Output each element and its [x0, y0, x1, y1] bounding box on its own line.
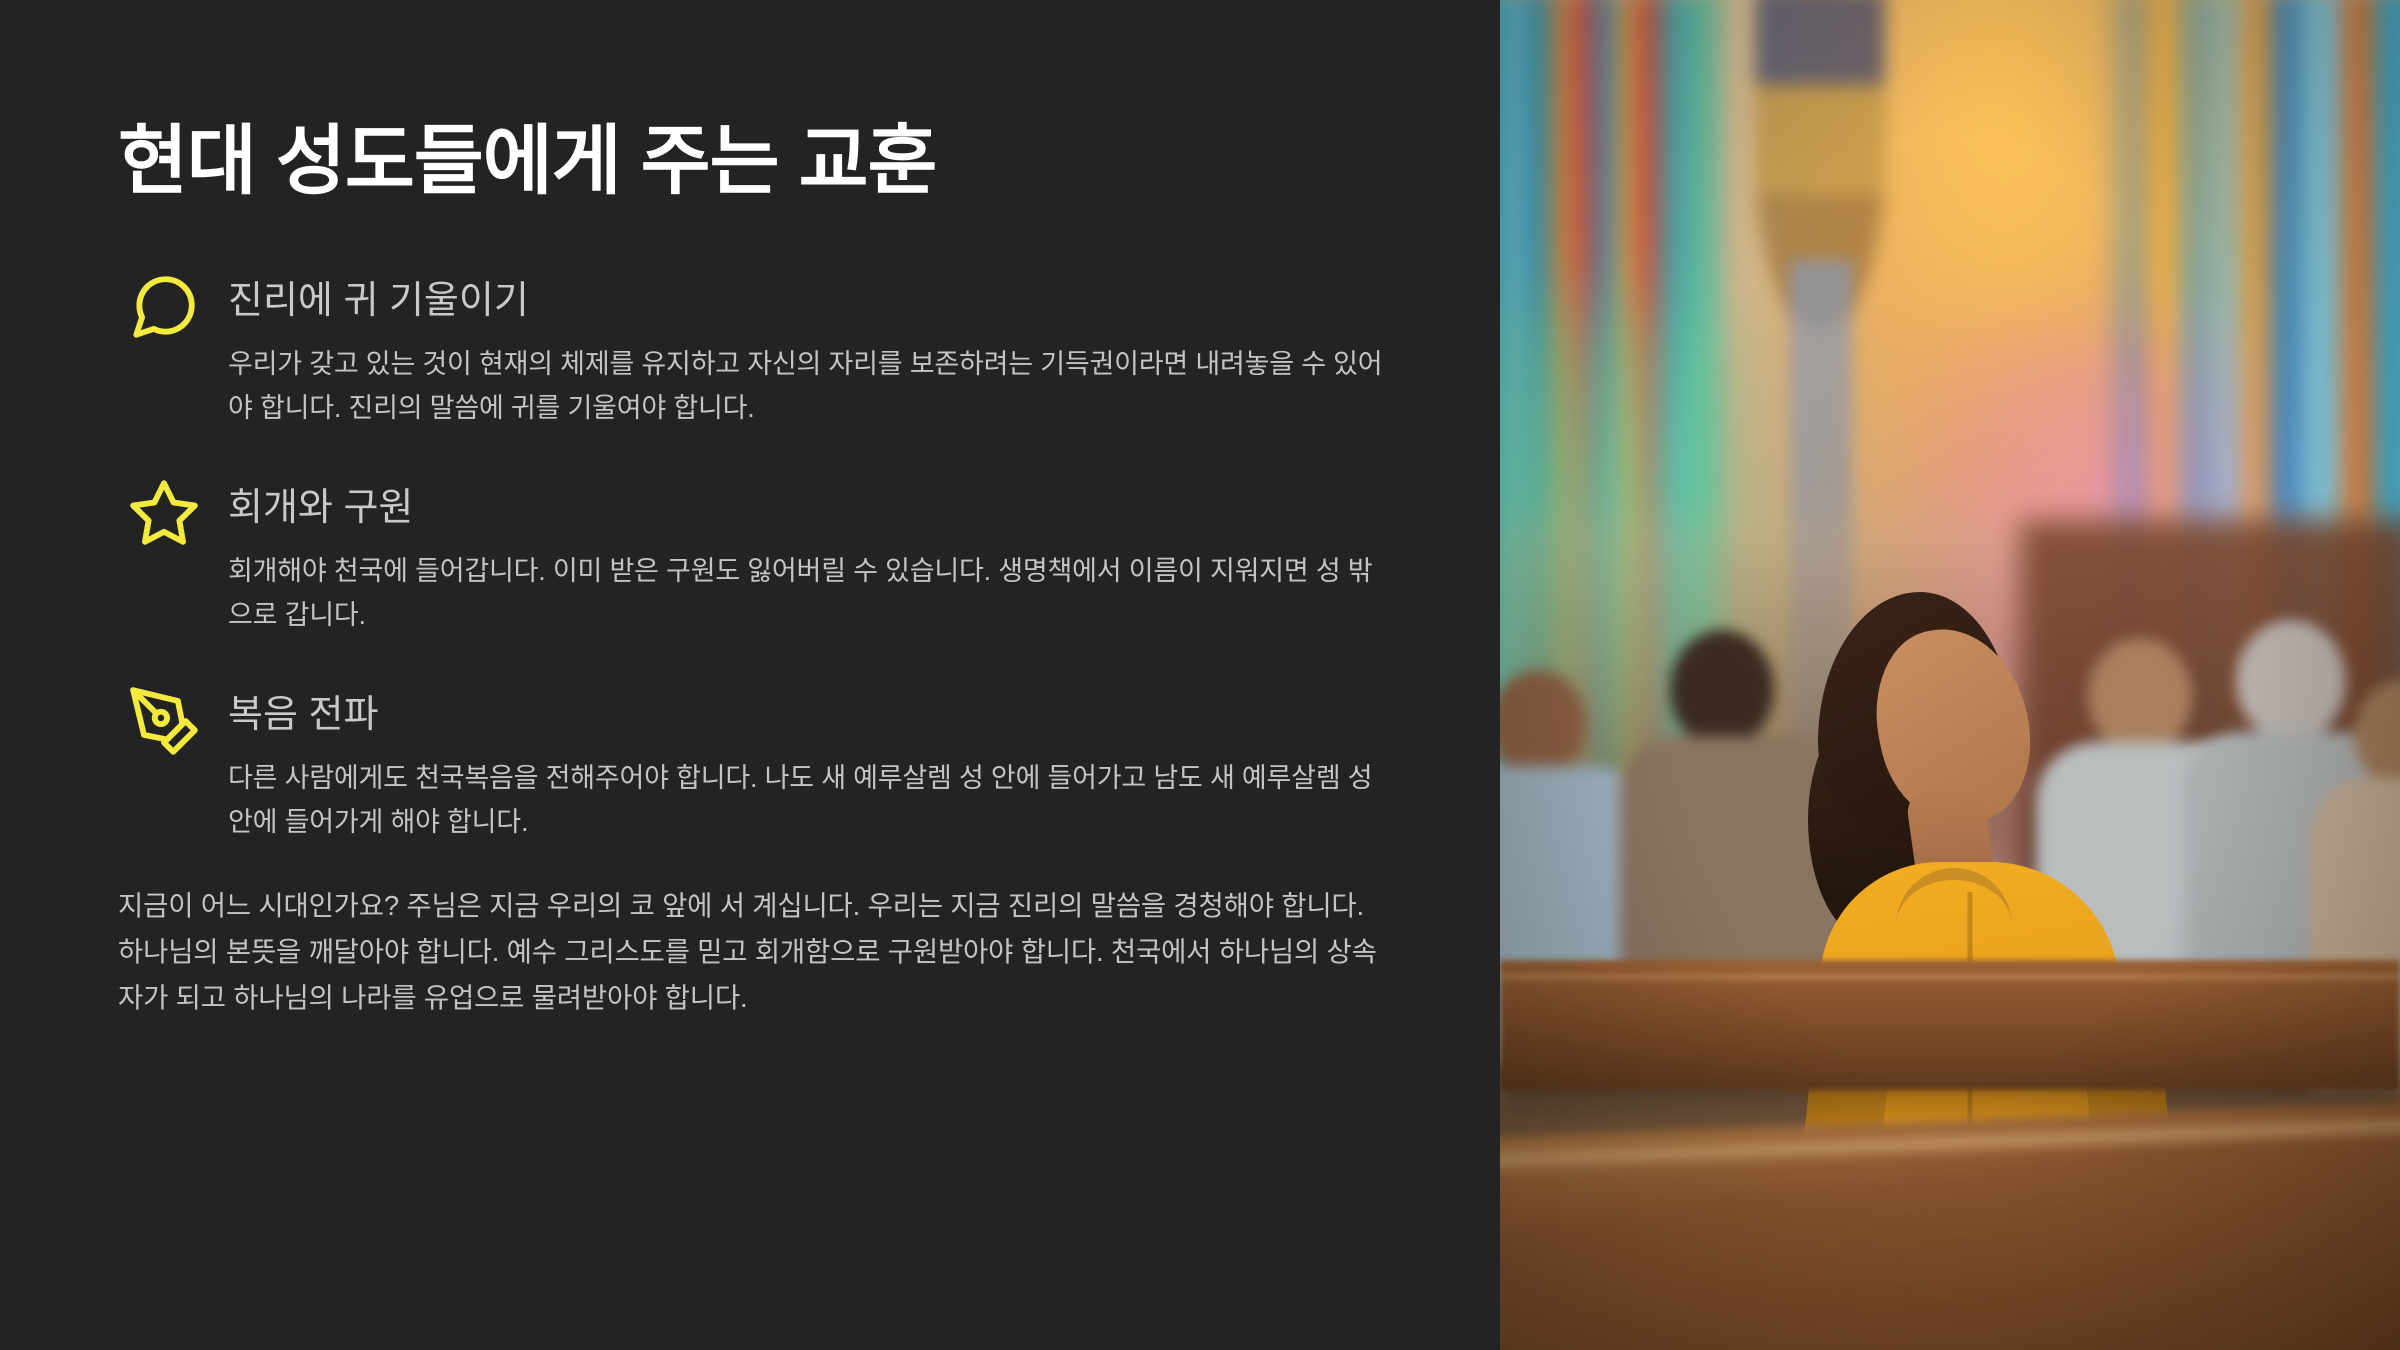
point-body: 진리에 귀 기울이기 우리가 갖고 있는 것이 현재의 체제를 유지하고 자신의…	[228, 276, 1390, 431]
point-heading: 복음 전파	[228, 692, 1390, 740]
point-body: 회개와 구원 회개해야 천국에 들어갑니다. 이미 받은 구원도 잃어버릴 수 …	[228, 483, 1390, 638]
point-item-gospel-proclamation: 복음 전파 다른 사람에게도 천국복음을 전해주어야 합니다. 나도 새 예루살…	[118, 690, 1390, 845]
slide-root: 현대 성도들에게 주는 교훈 진리에 귀 기울이기 우리가 갖고 있는 것이 현…	[0, 0, 2400, 1350]
pen-nib-icon	[118, 684, 210, 776]
content-panel: 현대 성도들에게 주는 교훈 진리에 귀 기울이기 우리가 갖고 있는 것이 현…	[0, 0, 1500, 1350]
pew-front-row	[1500, 1101, 2400, 1350]
point-item-repentance-and-salvation: 회개와 구원 회개해야 천국에 들어갑니다. 이미 받은 구원도 잃어버릴 수 …	[118, 483, 1390, 638]
point-text: 다른 사람에게도 천국복음을 전해주어야 합니다. 나도 새 예루살렘 성 안에…	[228, 757, 1390, 844]
closing-paragraph: 지금이 어느 시대인가요? 주님은 지금 우리의 코 앞에 서 계십니다. 우리…	[118, 883, 1388, 1022]
point-text: 회개해야 천국에 들어갑니다. 이미 받은 구원도 잃어버릴 수 있습니다. 생…	[228, 550, 1390, 637]
speech-bubble-icon	[118, 270, 210, 362]
star-icon	[118, 477, 210, 569]
point-heading: 진리에 귀 기울이기	[228, 278, 1390, 326]
point-text: 우리가 갖고 있는 것이 현재의 체제를 유지하고 자신의 자리를 보존하려는 …	[228, 343, 1390, 430]
page-title: 현대 성도들에게 주는 교훈	[118, 120, 1390, 204]
points-list: 진리에 귀 기울이기 우리가 갖고 있는 것이 현재의 체제를 유지하고 자신의…	[118, 276, 1390, 897]
point-heading: 회개와 구원	[228, 485, 1390, 533]
point-body: 복음 전파 다른 사람에게도 천국복음을 전해주어야 합니다. 나도 새 예루살…	[228, 690, 1390, 845]
point-item-listening-to-truth: 진리에 귀 기울이기 우리가 갖고 있는 것이 현재의 체제를 유지하고 자신의…	[118, 276, 1390, 431]
pew-middle-row	[1500, 960, 2400, 1090]
church-congregation-photo	[1500, 0, 2400, 1350]
